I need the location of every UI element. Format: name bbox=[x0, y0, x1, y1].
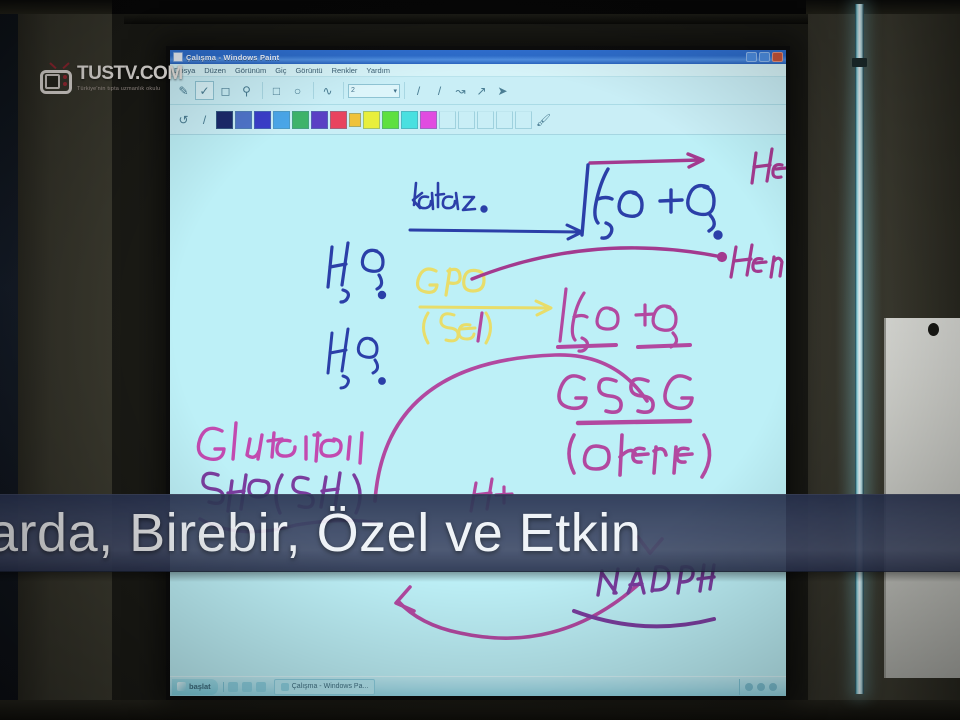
minimize-button[interactable] bbox=[746, 52, 757, 62]
swatch-cyan[interactable] bbox=[401, 111, 418, 129]
brand-tagline: Türkiye'nin tıpta uzmanlık okulu bbox=[77, 86, 183, 92]
brush-size-value: 2 bbox=[351, 87, 355, 94]
toolbar-separator-4 bbox=[404, 82, 405, 99]
swatch-purple[interactable] bbox=[311, 111, 328, 129]
formula-h2o2-2 bbox=[328, 329, 384, 388]
chevron-down-icon: ▾ bbox=[393, 87, 397, 95]
swatch-empty-2[interactable] bbox=[458, 111, 475, 129]
swatch-empty-3[interactable] bbox=[477, 111, 494, 129]
room-door-panel bbox=[0, 0, 18, 720]
swatch-red[interactable] bbox=[330, 111, 347, 129]
shield-icon[interactable] bbox=[769, 683, 777, 691]
network-icon[interactable] bbox=[757, 683, 765, 691]
room-floor bbox=[0, 700, 960, 720]
media-icon[interactable] bbox=[242, 682, 252, 692]
whiteboard-knob bbox=[928, 323, 939, 336]
menu-bar: Dosya Düzen Görünüm Giç Görüntü Renkler … bbox=[170, 64, 786, 77]
close-button[interactable] bbox=[772, 52, 783, 62]
label-glutation bbox=[198, 423, 362, 463]
swatch-blue[interactable] bbox=[254, 111, 271, 129]
ellipse-icon[interactable]: ○ bbox=[288, 81, 307, 100]
windows-start-icon bbox=[177, 682, 186, 691]
quick-launch-bar bbox=[223, 682, 266, 692]
menu-gic[interactable]: Giç bbox=[275, 66, 286, 75]
swatch-green[interactable] bbox=[292, 111, 309, 129]
room-ceiling-shadow bbox=[112, 0, 806, 14]
arrow-to-hem-top bbox=[590, 154, 703, 167]
start-label: başlat bbox=[189, 682, 211, 691]
label-h-plus bbox=[478, 313, 482, 341]
tv-dot-1 bbox=[63, 75, 67, 79]
window-titlebar[interactable]: Çalışma - Windows Paint bbox=[170, 50, 786, 64]
formula-h2o2-1 bbox=[328, 243, 385, 302]
label-hem-1 bbox=[752, 149, 786, 184]
taskbar-item-paint[interactable]: Çalışma - Windows Pa... bbox=[274, 679, 376, 695]
projected-desktop: Çalışma - Windows Paint Dosya Düzen Görü… bbox=[170, 50, 786, 696]
swatch-empty-5[interactable] bbox=[515, 111, 532, 129]
screen-roller bbox=[124, 14, 808, 24]
arrow-katalaz bbox=[410, 225, 582, 239]
swatch-yellow[interactable] bbox=[363, 111, 380, 129]
color-palette: ↺ / 🖌 bbox=[170, 105, 786, 135]
arrow-to-hem-bottom bbox=[472, 248, 725, 279]
eraser-icon[interactable]: ◻ bbox=[216, 81, 235, 100]
paint-icon bbox=[281, 683, 289, 691]
window-title: Çalışma - Windows Paint bbox=[186, 53, 279, 62]
swatch-steelblue[interactable] bbox=[235, 111, 252, 129]
arc-icon[interactable]: ↝ bbox=[451, 81, 470, 100]
logo-text: TUSTV.COM Türkiye'nin tıpta uzmanlık oku… bbox=[77, 60, 183, 92]
menu-yardim[interactable]: Yardım bbox=[366, 66, 390, 75]
desktop-icon[interactable] bbox=[256, 682, 266, 692]
swatch-empty-1[interactable] bbox=[439, 111, 456, 129]
line-icon[interactable]: / bbox=[409, 81, 428, 100]
formula-products-1 bbox=[582, 165, 721, 238]
color-picker-icon[interactable]: 🖌 bbox=[534, 110, 553, 129]
menu-duzen[interactable]: Düzen bbox=[204, 66, 226, 75]
banner-shadow bbox=[0, 572, 960, 582]
system-tray bbox=[739, 679, 786, 695]
diagonal-icon[interactable]: / bbox=[430, 81, 449, 100]
pointer-icon[interactable]: ➤ bbox=[493, 81, 512, 100]
tv-dots bbox=[63, 75, 67, 89]
label-hem-2 bbox=[731, 245, 782, 277]
formula-products-2 bbox=[558, 289, 690, 351]
handwritten-notes: H2O + O2 ===== --> bbox=[170, 135, 786, 677]
maximize-button[interactable] bbox=[759, 52, 770, 62]
rectangle-icon[interactable]: □ bbox=[267, 81, 286, 100]
slash-icon[interactable]: / bbox=[195, 110, 214, 129]
banner-text: nlarda, Birebir, Özel ve Etkin bbox=[0, 502, 641, 564]
menu-goruntu[interactable]: Görüntü bbox=[295, 66, 322, 75]
swatch-empty-4[interactable] bbox=[496, 111, 513, 129]
brush-size-select[interactable]: 2 ▾ bbox=[348, 84, 400, 98]
window-controls bbox=[746, 52, 786, 62]
label-gpo bbox=[418, 269, 484, 295]
brush-icon[interactable]: ✓ bbox=[195, 81, 214, 100]
tustv-watermark: TUSTV.COM Türkiye'nin tıpta uzmanlık oku… bbox=[40, 60, 170, 106]
video-frame: Çalışma - Windows Paint Dosya Düzen Görü… bbox=[0, 0, 960, 720]
menu-gorunum[interactable]: Görünüm bbox=[235, 66, 266, 75]
tv-logo-icon bbox=[40, 64, 72, 94]
toolbar-separator-3 bbox=[343, 82, 344, 99]
brand-name: TUSTV.COM bbox=[77, 64, 183, 83]
paint-canvas[interactable]: H2O + O2 ===== --> bbox=[170, 135, 786, 677]
swatch-navy[interactable] bbox=[216, 111, 233, 129]
swatch-skyblue[interactable] bbox=[273, 111, 290, 129]
label-gssg bbox=[559, 376, 710, 477]
swatch-magenta[interactable] bbox=[420, 111, 437, 129]
toolbar-separator-2 bbox=[313, 82, 314, 99]
arrow-glutathione-reduction bbox=[396, 583, 640, 638]
undo-icon[interactable]: ↺ bbox=[174, 110, 193, 129]
tv-dot-2 bbox=[63, 82, 67, 86]
volume-icon[interactable] bbox=[745, 683, 753, 691]
fluorescent-tube-icon bbox=[855, 4, 864, 694]
windows-taskbar: başlat Çalışma - Windows Pa... bbox=[170, 676, 786, 696]
magnifier-icon[interactable]: ⚲ bbox=[237, 81, 256, 100]
curve-icon[interactable]: ∿ bbox=[318, 81, 337, 100]
start-button[interactable]: başlat bbox=[172, 679, 218, 695]
toolbar-separator-1 bbox=[262, 82, 263, 99]
menu-renkler[interactable]: Renkler bbox=[332, 66, 358, 75]
subtitle-banner: nlarda, Birebir, Özel ve Etkin bbox=[0, 494, 960, 572]
tv-screen bbox=[45, 74, 60, 89]
drawing-toolbar: ✎ ✓ ◻ ⚲ □ ○ ∿ 2 ▾ / / ↝ ↗ ➤ bbox=[170, 77, 786, 105]
taskbar-item-label: Çalışma - Windows Pa... bbox=[292, 683, 369, 690]
label-katalaz bbox=[413, 183, 486, 211]
tube-bracket bbox=[852, 58, 867, 67]
swatch-amber[interactable] bbox=[349, 113, 361, 127]
swatch-lime[interactable] bbox=[382, 111, 399, 129]
arrow-icon[interactable]: ↗ bbox=[472, 81, 491, 100]
ie-icon[interactable] bbox=[228, 682, 238, 692]
